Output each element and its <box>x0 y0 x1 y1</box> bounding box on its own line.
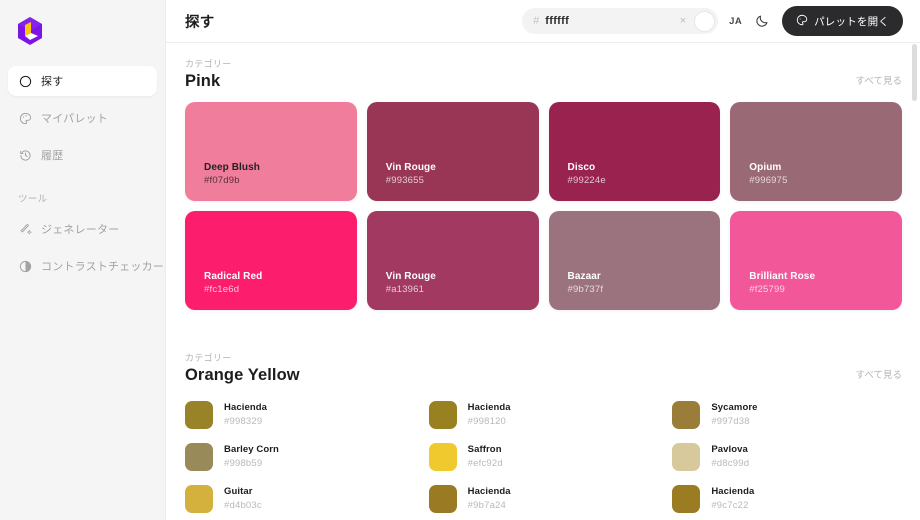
color-card[interactable]: Opium#996975 <box>730 102 902 201</box>
section-pink-see-all[interactable]: すべて見る <box>856 73 902 90</box>
color-card-hex: #9b737f <box>568 283 721 297</box>
color-card-hex: #996975 <box>749 174 902 188</box>
list-item-name: Hacienda <box>468 485 511 499</box>
sidebar-item-palettes-label: マイパレット <box>41 110 108 126</box>
topbar: 探す # × JA <box>166 0 920 43</box>
color-card-name: Deep Blush <box>204 161 357 174</box>
list-item-swatch <box>672 401 700 429</box>
open-palette-label: パレットを開く <box>814 14 889 29</box>
list-item-hex: #998120 <box>468 415 511 429</box>
color-search[interactable]: # × <box>522 8 718 34</box>
list-item-hex: #9c7c22 <box>711 499 754 513</box>
list-item-text: Hacienda#998329 <box>224 401 267 429</box>
section-orange-yellow-header: カテゴリー Orange Yellow すべて見る <box>185 337 902 384</box>
history-icon <box>18 148 32 162</box>
color-card-hex: #99224e <box>568 174 721 188</box>
sidebar-item-generator[interactable]: ジェネレーター <box>8 214 157 244</box>
palette-icon <box>18 111 32 125</box>
pink-card-grid: Deep Blush#f07d9bVin Rouge#993655Disco#9… <box>185 102 902 310</box>
list-item[interactable]: Hacienda#998120 <box>429 397 659 432</box>
color-card[interactable]: Deep Blush#f07d9b <box>185 102 357 201</box>
list-item-swatch <box>429 401 457 429</box>
list-item-text: Hacienda#998120 <box>468 401 511 429</box>
sidebar-item-explore-label: 探す <box>41 73 63 89</box>
main-area: 探す # × JA <box>166 0 920 520</box>
color-card-name: Radical Red <box>204 270 357 283</box>
sidebar-item-history[interactable]: 履歴 <box>8 140 157 170</box>
list-item[interactable]: Hacienda#998329 <box>185 397 415 432</box>
list-item-name: Hacienda <box>468 401 511 415</box>
color-card-hex: #f25799 <box>749 283 902 297</box>
list-item-swatch <box>185 401 213 429</box>
list-item-name: Guitar <box>224 485 262 499</box>
sidebar-item-generator-label: ジェネレーター <box>41 221 119 237</box>
color-card[interactable]: Disco#99224e <box>549 102 721 201</box>
list-item[interactable]: Hacienda#9b7a24 <box>429 481 659 516</box>
hexagon-logo-icon <box>16 16 44 46</box>
list-item-text: Barley Corn#998b59 <box>224 443 279 471</box>
page-title: 探す <box>185 11 214 32</box>
color-card[interactable]: Brilliant Rose#f25799 <box>730 211 902 310</box>
color-card[interactable]: Vin Rouge#a13961 <box>367 211 539 310</box>
list-item-swatch <box>185 443 213 471</box>
list-item-name: Saffron <box>468 443 503 457</box>
list-item-text: Hacienda#9b7a24 <box>468 485 511 513</box>
topbar-actions: # × JA <box>522 6 903 36</box>
color-card-name: Vin Rouge <box>386 161 539 174</box>
color-card[interactable]: Vin Rouge#993655 <box>367 102 539 201</box>
app-root: 探す マイパレット 履歴 <box>0 0 920 520</box>
color-preview-swatch[interactable] <box>694 11 715 32</box>
color-card-hex: #993655 <box>386 174 539 188</box>
sidebar-item-palettes[interactable]: マイパレット <box>8 103 157 133</box>
list-item[interactable]: Saffron#efc92d <box>429 439 659 474</box>
color-card-hex: #fc1e6d <box>204 283 357 297</box>
section-pink-title: Pink <box>185 72 232 90</box>
section-orange-yellow: カテゴリー Orange Yellow すべて見る Hacienda#99832… <box>185 337 902 516</box>
tools-nav: ジェネレーター コントラストチェッカー <box>8 214 157 288</box>
list-item-hex: #d4b03c <box>224 499 262 513</box>
list-item-hex: #9b7a24 <box>468 499 511 513</box>
sidebar-item-history-label: 履歴 <box>41 147 63 163</box>
color-card-hex: #f07d9b <box>204 174 357 188</box>
language-toggle[interactable]: JA <box>729 16 742 27</box>
list-item-swatch <box>429 443 457 471</box>
sidebar-tools-title: ツール <box>8 191 157 205</box>
section-orange-yellow-kicker: カテゴリー <box>185 351 300 364</box>
color-card-name: Vin Rouge <box>386 270 539 283</box>
sidebar: 探す マイパレット 履歴 <box>0 0 166 520</box>
scrollbar[interactable] <box>912 44 917 518</box>
primary-nav: 探す マイパレット 履歴 <box>8 66 157 177</box>
moon-icon[interactable] <box>753 12 771 30</box>
sidebar-item-contrast[interactable]: コントラストチェッカー <box>8 251 157 281</box>
section-orange-yellow-see-all[interactable]: すべて見る <box>856 367 902 384</box>
hash-prefix: # <box>533 15 539 27</box>
section-pink-header: カテゴリー Pink すべて見る <box>185 43 902 90</box>
list-item[interactable]: Pavlova#d8c99d <box>672 439 902 474</box>
orange-yellow-list: Hacienda#998329Hacienda#998120Sycamore#9… <box>185 397 902 516</box>
color-card-name: Bazaar <box>568 270 721 283</box>
list-item-hex: #997d38 <box>711 415 757 429</box>
sidebar-item-explore[interactable]: 探す <box>8 66 157 96</box>
list-item-swatch <box>672 443 700 471</box>
list-item-text: Sycamore#997d38 <box>711 401 757 429</box>
list-item-text: Saffron#efc92d <box>468 443 503 471</box>
magic-wand-icon <box>18 222 32 236</box>
list-item-hex: #efc92d <box>468 457 503 471</box>
list-item-hex: #998329 <box>224 415 267 429</box>
content-scroll-area[interactable]: カテゴリー Pink すべて見る Deep Blush#f07d9bVin Ro… <box>166 43 920 520</box>
list-item-text: Pavlova#d8c99d <box>711 443 749 471</box>
list-item[interactable]: Barley Corn#998b59 <box>185 439 415 474</box>
color-card-hex: #a13961 <box>386 283 539 297</box>
list-item-name: Barley Corn <box>224 443 279 457</box>
color-card-name: Opium <box>749 161 902 174</box>
clear-icon[interactable]: × <box>678 16 688 27</box>
palette-icon <box>796 14 808 29</box>
list-item[interactable]: Sycamore#997d38 <box>672 397 902 432</box>
search-input[interactable] <box>545 15 671 27</box>
sidebar-item-contrast-label: コントラストチェッカー <box>41 258 164 274</box>
compass-icon <box>18 74 32 88</box>
list-item-name: Hacienda <box>711 485 754 499</box>
section-pink-kicker: カテゴリー <box>185 57 232 70</box>
contrast-icon <box>18 259 32 273</box>
list-item-swatch <box>429 485 457 513</box>
scrollbar-thumb[interactable] <box>912 44 917 101</box>
list-item-name: Pavlova <box>711 443 749 457</box>
color-card-name: Brilliant Rose <box>749 270 902 283</box>
list-item-text: Guitar#d4b03c <box>224 485 262 513</box>
list-item-name: Hacienda <box>224 401 267 415</box>
list-item-name: Sycamore <box>711 401 757 415</box>
list-item-swatch <box>185 485 213 513</box>
list-item-hex: #998b59 <box>224 457 279 471</box>
section-orange-yellow-title: Orange Yellow <box>185 366 300 384</box>
color-card[interactable]: Radical Red#fc1e6d <box>185 211 357 310</box>
color-card[interactable]: Bazaar#9b737f <box>549 211 721 310</box>
list-item-hex: #d8c99d <box>711 457 749 471</box>
list-item-text: Hacienda#9c7c22 <box>711 485 754 513</box>
section-pink: カテゴリー Pink すべて見る Deep Blush#f07d9bVin Ro… <box>185 43 902 310</box>
open-palette-button[interactable]: パレットを開く <box>782 6 903 36</box>
list-item[interactable]: Guitar#d4b03c <box>185 481 415 516</box>
list-item-swatch <box>672 485 700 513</box>
list-item[interactable]: Hacienda#9c7c22 <box>672 481 902 516</box>
logo-wrap[interactable] <box>8 0 157 62</box>
color-card-name: Disco <box>568 161 721 174</box>
